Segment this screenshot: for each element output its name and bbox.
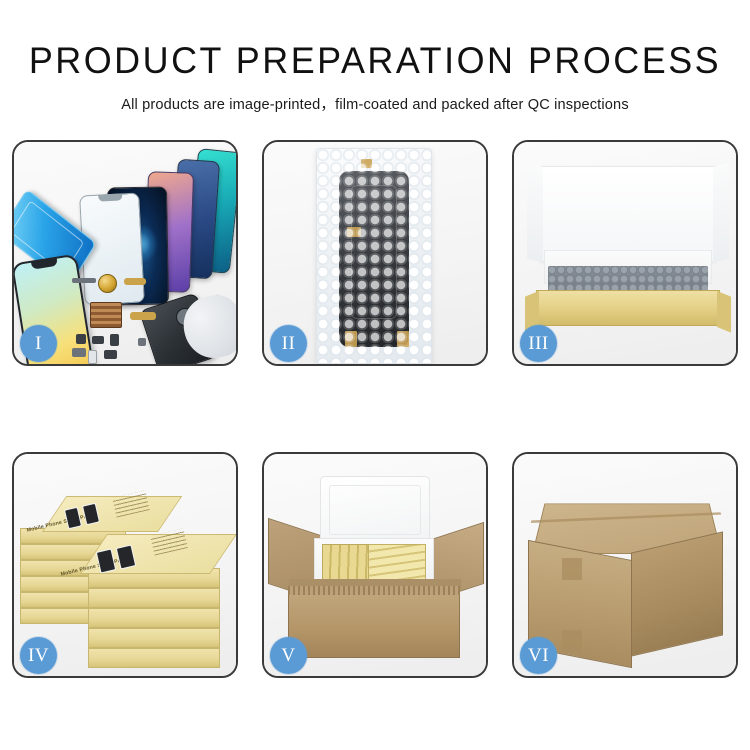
- carton-body-icon: [288, 586, 460, 658]
- step-badge-4: IV: [20, 637, 57, 674]
- process-step-card-3[interactable]: III: [512, 140, 738, 366]
- step-badge-5: V: [270, 637, 307, 674]
- bubble-texture-overlay: [317, 149, 431, 363]
- bubble-wrap-bag-icon: [316, 148, 432, 364]
- carton-corrugation-icon: [288, 586, 460, 595]
- stacked-box-r2: [88, 588, 220, 608]
- bracket-part-icon: [72, 278, 96, 283]
- page-title: PRODUCT PREPARATION PROCESS: [11, 0, 739, 81]
- process-steps-grid: I II: [12, 140, 738, 680]
- step-badge-3: III: [520, 325, 557, 362]
- carton-side-face-icon: [631, 531, 723, 656]
- camera-module-icon: [72, 348, 86, 357]
- process-step-card-4[interactable]: Mobile Phone Spare Parts Mobile Phone Sp…: [12, 452, 238, 678]
- kraft-box-base-icon: [536, 290, 720, 326]
- process-step-card-6[interactable]: VI: [512, 452, 738, 678]
- process-step-card-2[interactable]: II: [262, 140, 488, 366]
- foam-box-lid-icon: [320, 476, 430, 544]
- stacked-box-r5: [88, 648, 220, 668]
- stacked-box-r3: [88, 608, 220, 628]
- page-header: PRODUCT PREPARATION PROCESS All products…: [0, 0, 750, 114]
- ic-chip-icon: [76, 334, 86, 344]
- process-step-card-5[interactable]: V: [262, 452, 488, 678]
- sim-tray-icon: [88, 350, 97, 364]
- vibrator-part-icon: [104, 350, 117, 359]
- flex-cable-icon: [124, 278, 146, 285]
- step-badge-1: I: [20, 325, 57, 362]
- stacked-box-r4: [88, 628, 220, 648]
- step-badge-6: VI: [520, 637, 557, 674]
- kraft-boxes-inside-2-icon: [368, 544, 426, 584]
- chip-array-icon: [90, 302, 122, 328]
- speaker-part-icon: [110, 334, 119, 346]
- screw-part-icon: [138, 338, 146, 346]
- carton-tab-top-icon: [562, 558, 582, 580]
- product-preparation-page: PRODUCT PREPARATION PROCESS All products…: [0, 0, 750, 750]
- wireless-coil-icon: [98, 274, 117, 293]
- carton-tab-bottom-icon: [562, 630, 582, 652]
- step-badge-2: II: [270, 325, 307, 362]
- process-step-card-1[interactable]: I: [12, 140, 238, 366]
- flex-cable-long-icon: [130, 312, 156, 320]
- white-box-lid-icon: [540, 166, 716, 262]
- ic-chip-2-icon: [92, 336, 104, 344]
- page-subtitle: All products are image-printed，film-coat…: [0, 81, 750, 114]
